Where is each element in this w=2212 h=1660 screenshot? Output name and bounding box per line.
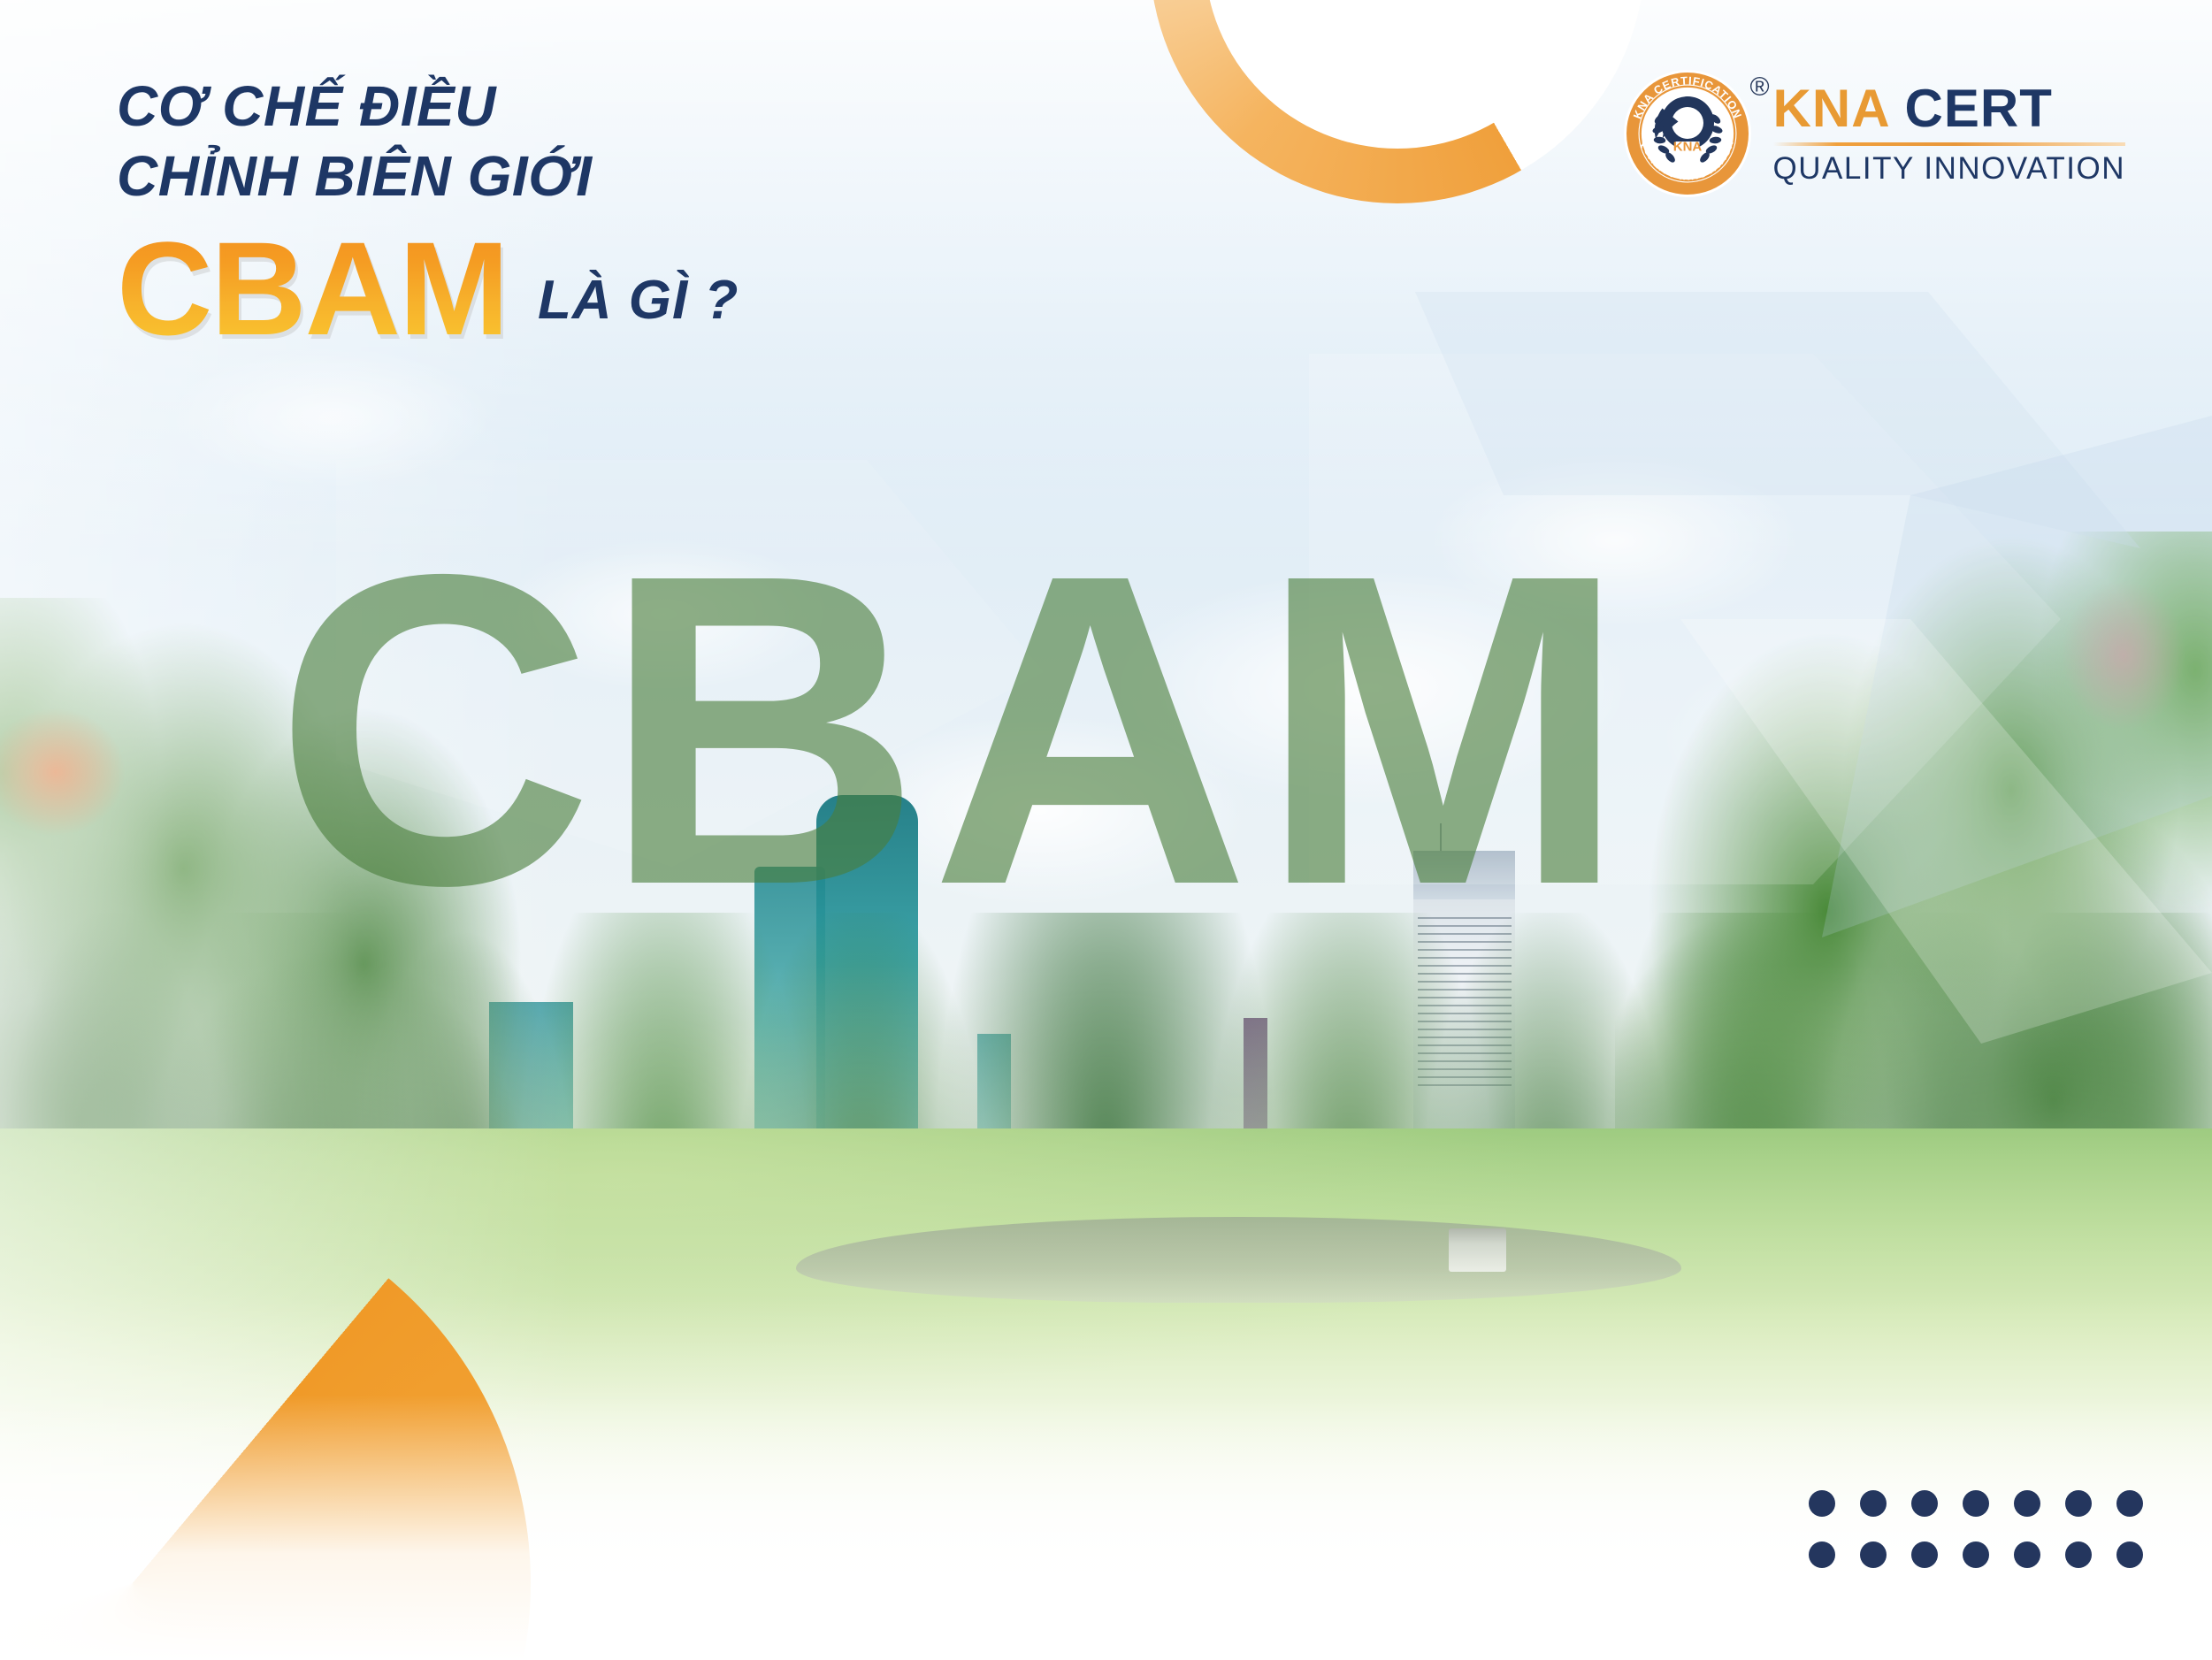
- headline-line-1: CƠ CHẾ ĐIỀU: [117, 76, 1178, 137]
- question-text: LÀ GÌ ?: [538, 269, 739, 332]
- dot: [2116, 1490, 2143, 1517]
- cbam-watermark: CBAM: [274, 509, 1636, 951]
- acronym-row: CBAM LÀ GÌ ?: [117, 226, 1178, 351]
- svg-text:KNA: KNA: [1672, 140, 1702, 155]
- logo-brand-cert: CERT: [1905, 79, 2053, 138]
- dot: [2116, 1541, 2143, 1568]
- dot: [1963, 1490, 1989, 1517]
- dot: [2065, 1541, 2092, 1568]
- dot: [2065, 1490, 2092, 1517]
- dot: [1911, 1490, 1938, 1517]
- dot: [2014, 1541, 2040, 1568]
- cbam-acronym: CBAM: [117, 226, 508, 351]
- dot: [1911, 1541, 1938, 1568]
- logo-tagline: QUALITY INNOVATION: [1773, 151, 2125, 187]
- poster-canvas: CBAM CƠ CHẾ ĐIỀU CHỈNH BIÊN GIỚI CBAM LÀ…: [0, 0, 2212, 1660]
- dot: [2014, 1490, 2040, 1517]
- kna-cert-logo[interactable]: KNA CERTIFICATION QUALITY INNOVATION: [1621, 67, 2125, 200]
- registered-trademark-icon: ®: [1750, 73, 1770, 103]
- logo-wordmark: KNACERT QUALITY INNOVATION: [1773, 80, 2125, 187]
- dot: [1963, 1541, 1989, 1568]
- logo-divider: [1773, 142, 2125, 146]
- headline-block: CƠ CHẾ ĐIỀU CHỈNH BIÊN GIỚI CBAM LÀ GÌ ?: [117, 76, 1178, 351]
- dot: [1860, 1490, 1887, 1517]
- dot: [1809, 1490, 1835, 1517]
- logo-brand-kna: KNA: [1773, 79, 1891, 138]
- kna-seal-icon: KNA CERTIFICATION QUALITY INNOVATION: [1621, 67, 1754, 200]
- dot: [1809, 1541, 1835, 1568]
- decorative-dot-grid: [1809, 1490, 2143, 1568]
- headline-line-2: CHỈNH BIÊN GIỚI: [117, 146, 1178, 207]
- logo-brand-line: KNACERT: [1773, 82, 2125, 135]
- dot: [1860, 1541, 1887, 1568]
- orange-gradient-rule: [124, 412, 1238, 424]
